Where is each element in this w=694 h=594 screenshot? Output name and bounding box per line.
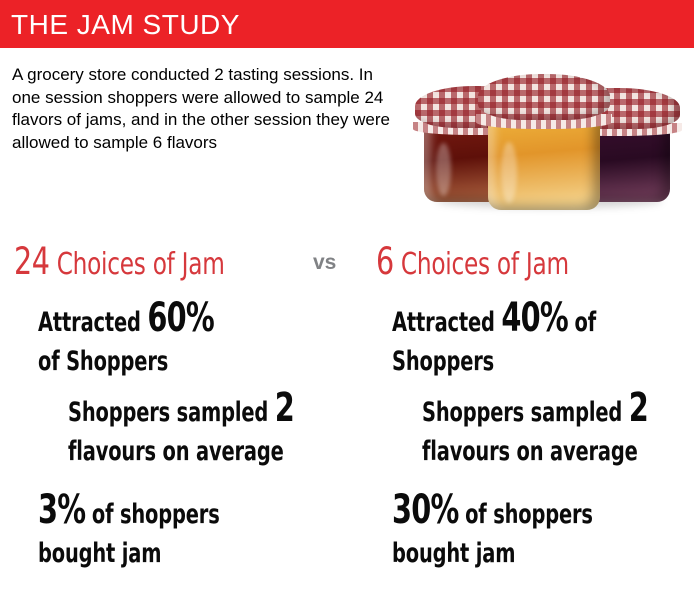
left-choice-label: Choices of Jam [57,247,225,282]
header-banner: THE JAM STUDY [0,0,694,48]
stat-prefix: Attracted [392,307,501,338]
versus-separator: vs [313,251,336,275]
left-choice-count: 24 [14,240,50,283]
stat-prefix: Attracted [38,307,147,338]
stat-value: 30% [392,487,459,533]
stat-prefix: Shoppers sampled [68,397,275,428]
stat-right-attracted: Attracted 40% of Shoppers [392,300,596,383]
jam-jars-photo [418,58,686,216]
right-choice-label: Choices of Jam [401,247,569,282]
stat-right-sampled: Shoppers sampled 2 flavours on average [422,390,648,473]
stat-value: 2 [275,385,294,431]
jar-gleam [501,142,517,203]
page-title: THE JAM STUDY [11,9,240,41]
right-choice-count: 6 [376,240,394,283]
stat-line2: Shoppers [392,346,494,377]
stat-line2: flavours on average [68,436,284,467]
stat-line2: flavours on average [422,436,638,467]
stat-value: 2 [629,385,648,431]
stat-suffix: of shoppers [85,499,219,530]
stat-suffix: of shoppers [459,499,593,530]
stat-line2: of Shoppers [38,346,168,377]
stat-left-attracted: Attracted 60% of Shoppers [38,300,214,383]
stat-line2: bought jam [38,538,161,569]
golden-amber-jam-jar [488,74,600,210]
jar-gleam [436,143,451,196]
stat-value: 40% [501,295,568,341]
stat-prefix: Shoppers sampled [422,397,629,428]
gingham-lid [478,74,610,120]
stat-suffix: of [568,307,596,338]
stat-left-sampled: Shoppers sampled 2 flavours on average [68,390,294,473]
stat-right-bought: 30% of shoppers bought jam [392,492,593,575]
headline-left-column: 24 Choices of Jam [14,240,225,283]
stat-line2: bought jam [392,538,515,569]
stat-value: 3% [38,487,85,533]
stat-value: 60% [147,295,214,341]
headline-right-column: 6 Choices of Jam [376,240,569,283]
stat-left-bought: 3% of shoppers bought jam [38,492,220,575]
intro-paragraph: A grocery store conducted 2 tasting sess… [12,64,390,154]
